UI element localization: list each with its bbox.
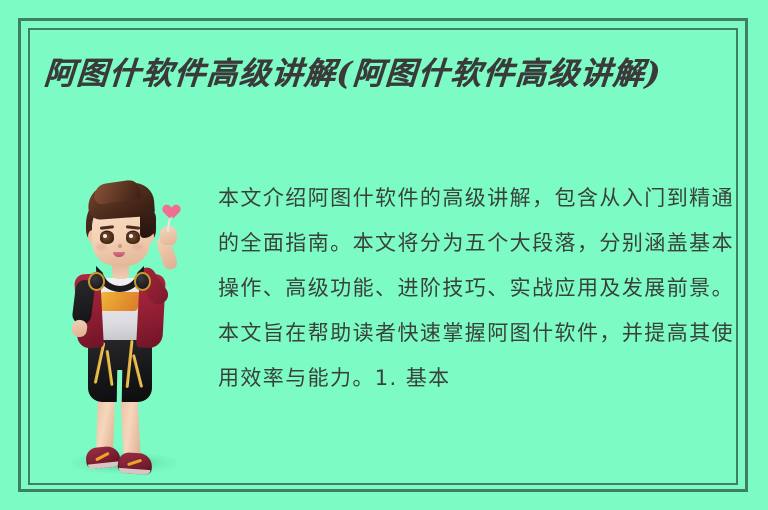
headphone-right-cup-icon: [134, 272, 151, 291]
headphone-left-cup-icon: [88, 272, 105, 291]
right-eye: [126, 232, 140, 244]
heart-icon: [160, 199, 176, 215]
shorts-gold-accent: [94, 342, 106, 384]
character-illustration: [50, 170, 200, 480]
left-sneaker-icon: [85, 445, 121, 469]
right-shoe-sole: [118, 468, 150, 475]
article-body-text: 本文介绍阿图什软件的高级讲解，包含从入门到精通的全面指南。本文将分为五个大段落，…: [218, 176, 734, 401]
illustration-column: [32, 170, 214, 480]
nose: [118, 244, 122, 248]
shorts-leg-gap: [117, 370, 123, 402]
right-blush: [132, 244, 143, 250]
body-column: 本文介绍阿图什软件的高级讲解，包含从入门到精通的全面指南。本文将分为五个大段落，…: [214, 170, 734, 476]
tee-graphic-print: [97, 292, 140, 311]
shorts-gold-accent: [106, 350, 114, 386]
left-eye: [100, 232, 114, 244]
page-title: 阿图什软件高级讲解(阿图什软件高级讲解): [42, 52, 745, 96]
article-card: 阿图什软件高级讲解(阿图什软件高级讲解): [0, 0, 768, 510]
content-row: 本文介绍阿图什软件的高级讲解，包含从入门到精通的全面指南。本文将分为五个大段落，…: [32, 170, 734, 483]
left-blush: [96, 244, 107, 250]
left-shoe-stripe: [95, 452, 110, 462]
shorts-gold-accent: [132, 354, 143, 388]
right-shoe-stripe: [127, 459, 142, 466]
shorts-gold-accent: [125, 340, 133, 388]
